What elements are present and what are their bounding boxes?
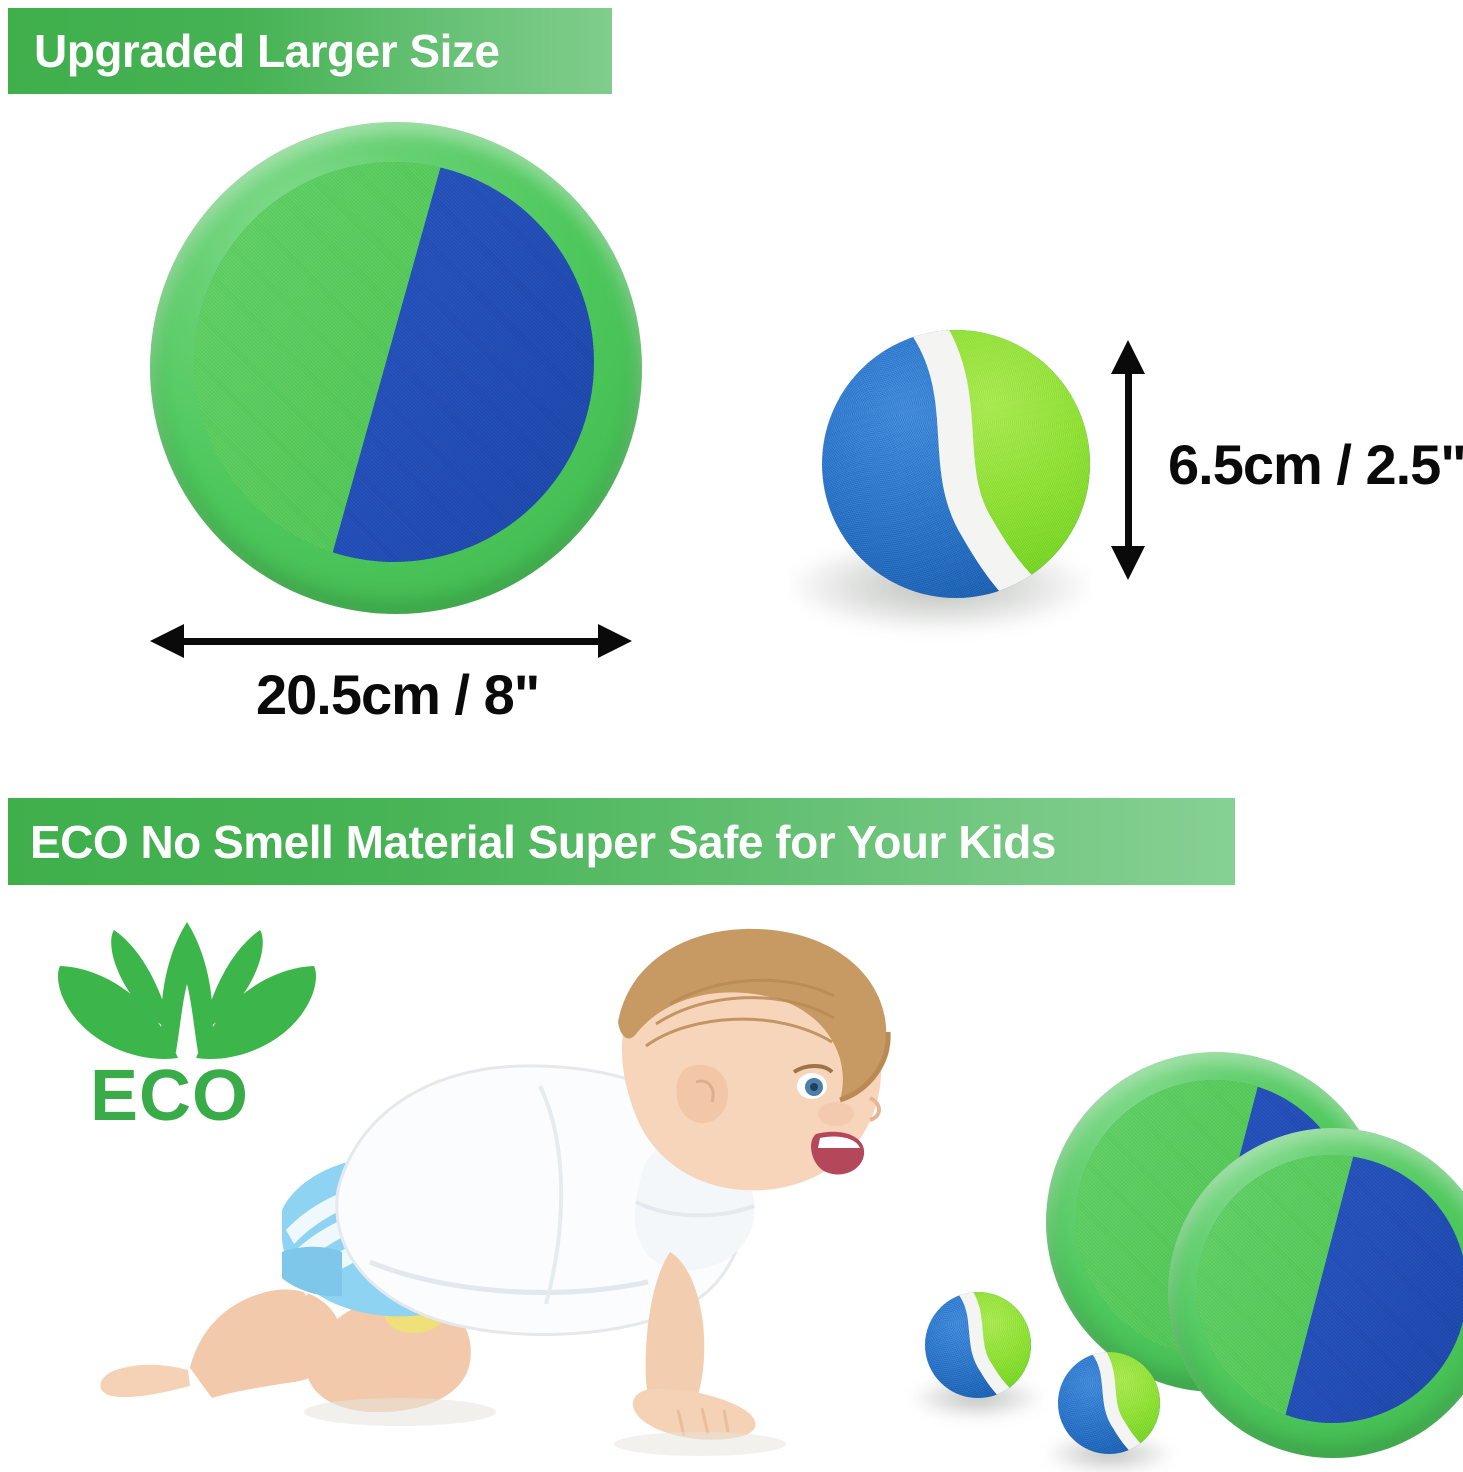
paddle-width-arrow-left — [150, 624, 184, 658]
ball-height-arrow-up — [1111, 340, 1145, 374]
ball-small-2 — [1058, 1352, 1160, 1454]
paddle-small-front-face — [1197, 1155, 1463, 1423]
eco-badge-label: ECO — [90, 1060, 249, 1132]
ball-large — [822, 330, 1090, 598]
ball-small-2-fuzz-texture — [1058, 1352, 1160, 1454]
eco-badge: ECO — [52, 918, 322, 1133]
paddle-small-front-weave-texture — [1197, 1155, 1463, 1423]
paddle-large — [150, 122, 642, 614]
banner-upgraded-size-label: Upgraded Larger Size — [34, 24, 499, 78]
paddle-width-arrow-line — [180, 638, 600, 645]
paddle-face-weave-texture — [194, 162, 594, 562]
banner-eco-safe: ECO No Smell Material Super Safe for You… — [8, 798, 1235, 885]
product-infographic: Upgraded Larger Size 6.5cm / 2.5" 20.5cm… — [0, 0, 1463, 1472]
paddle-width-arrow-right — [598, 624, 632, 658]
paddle-small-front — [1168, 1128, 1463, 1458]
ball-height-label: 6.5cm / 2.5" — [1168, 432, 1463, 497]
ball-small-1-fuzz-texture — [925, 1292, 1031, 1398]
paddle-width-label: 20.5cm / 8" — [256, 662, 539, 727]
paddle-large-face — [194, 162, 594, 562]
banner-eco-safe-label: ECO No Smell Material Super Safe for You… — [30, 815, 1056, 869]
eco-leaves-icon — [52, 918, 322, 1068]
ball-small-1 — [925, 1292, 1031, 1398]
ball-height-arrow-line — [1125, 366, 1132, 552]
ball-fuzz-texture — [822, 330, 1090, 598]
banner-upgraded-size: Upgraded Larger Size — [8, 8, 612, 94]
ball-height-arrow-down — [1111, 546, 1145, 580]
